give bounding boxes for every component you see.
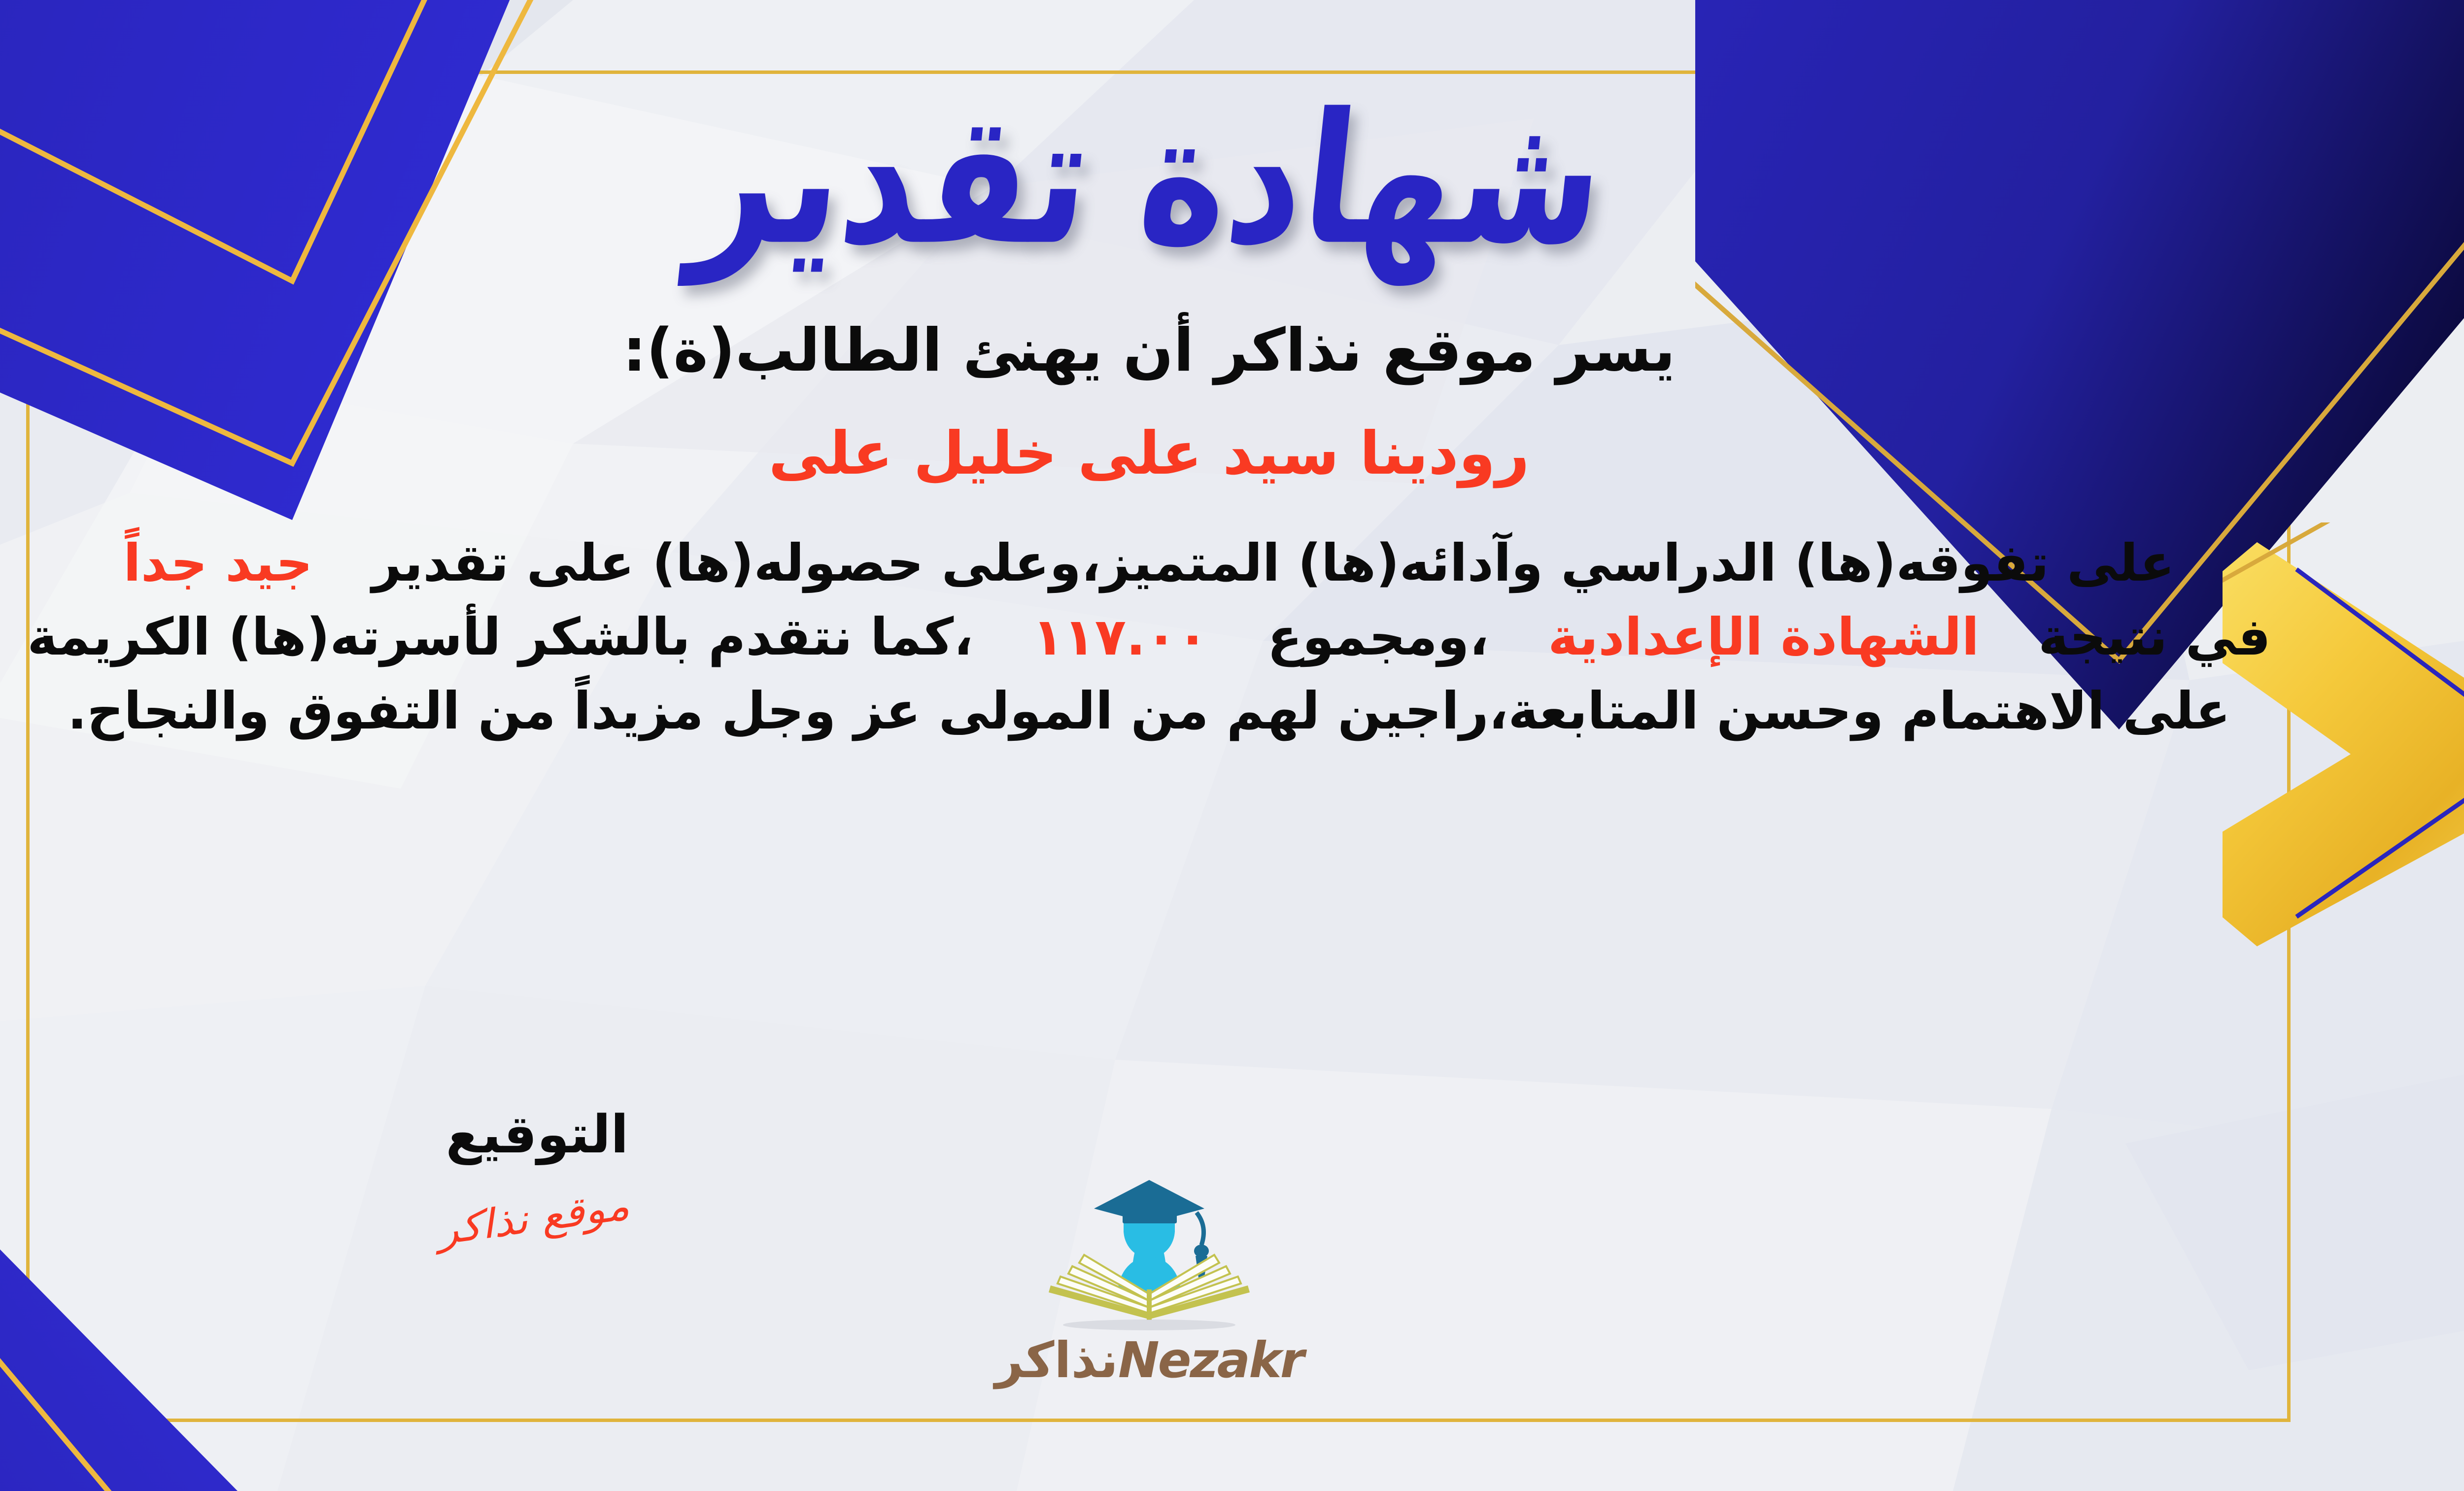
grade-value: جيد جداً	[123, 533, 312, 593]
graduate-book-icon	[1021, 1171, 1277, 1334]
signature-script: موقع نذاكر	[438, 1180, 637, 1254]
body-segment-1: على تفوقه(ها) الدراسي وآدائه(ها) المتميز…	[372, 533, 2175, 593]
logo-arabic-text: نذاكر	[995, 1331, 1118, 1389]
student-name: رودينا سيد على خليل على	[768, 419, 1529, 488]
page-title: شهادة تقدير	[685, 90, 1612, 270]
brand-logo: Nezakrنذاكر	[962, 1171, 1336, 1385]
certificate-canvas: شهادة تقدير يسر موقع نذاكر أن يهنئ الطال…	[0, 0, 2464, 1491]
logo-wordmark: Nezakrنذاكر	[962, 1336, 1336, 1385]
title-container: شهادة تقدير	[0, 74, 2464, 286]
body-segment-3: ،ومجموع	[1267, 607, 1489, 667]
body-segment-2: في نتيجة	[2038, 607, 2271, 667]
score-value: ١١٧.٠٠	[1032, 607, 1208, 667]
greeting-line: يسر موقع نذاكر أن يهنئ الطالب(ة):	[622, 316, 1675, 385]
logo-latin-text: Nezakr	[1118, 1331, 1303, 1389]
signature-label: التوقيع	[365, 1104, 710, 1165]
signature-block: التوقيع موقع نذاكر	[365, 1104, 710, 1242]
certificate-footer: التوقيع موقع نذاكر	[0, 1104, 2464, 1420]
exam-name: الشهادة الإعدادية	[1548, 607, 1979, 667]
body-paragraph: على تفوقه(ها) الدراسي وآدائه(ها) المتميز…	[0, 526, 2320, 748]
